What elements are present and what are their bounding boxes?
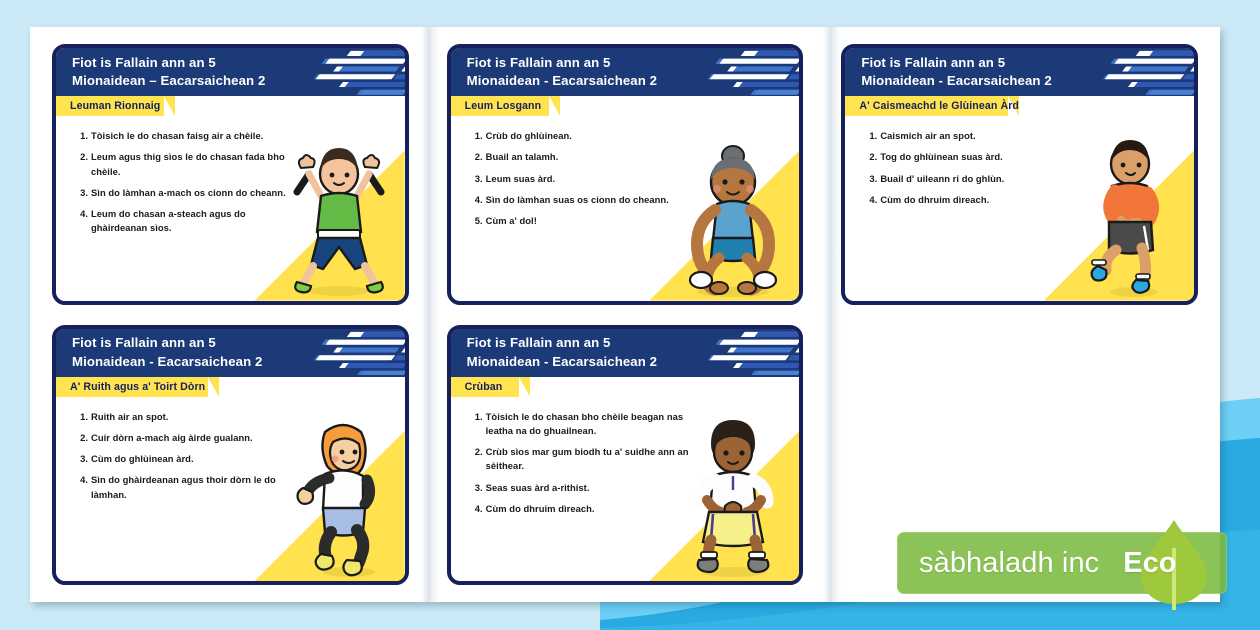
printable-sheet: Fiot is Fallain ann an 5 Mionaidean – Ea… (30, 27, 1220, 602)
card-body: 1.Crùb do ghlùinean.2.Buail an talamh.3.… (451, 116, 800, 301)
exercise-card[interactable]: Fiot is Fallain ann an 5 Mionaidean - Ea… (447, 325, 804, 586)
exercise-name-band: A' Caismeachd le Glùinean Àrd (845, 96, 1194, 116)
instruction-text: Tòisich le do chasan bho chèile beagan n… (486, 411, 683, 436)
card-grid: Fiot is Fallain ann an 5 Mionaidean – Ea… (30, 27, 1220, 602)
instruction-text: Leum agus thig sìos le do chasan fada bh… (91, 151, 285, 176)
instruction-item: 2.Crùb sìos mar gum biodh tu a' suidhe a… (469, 445, 692, 474)
card-title: Fiot is Fallain ann an 5 Mionaidean – Ea… (72, 54, 265, 90)
eco-badge-label: Eco (1123, 547, 1176, 580)
instruction-item: 4.Sìn do ghàirdeanan agus thoir dòrn le … (74, 473, 297, 502)
card-header: Fiot is Fallain ann an 5 Mionaidean – Ea… (56, 48, 405, 96)
exercise-card[interactable]: Fiot is Fallain ann an 5 Mionaidean - Ea… (52, 325, 409, 586)
exercise-name-band: Crùban (451, 377, 800, 397)
instruction-number: 5. (469, 214, 483, 228)
card-body: 1.Tòisich le do chasan faisg air a chèil… (56, 116, 405, 301)
instruction-item: 3.Cùm do ghlùinean àrd. (74, 452, 297, 466)
eco-watermark-label: sàbhaladh inc (919, 547, 1099, 580)
instruction-item: 2.Cuir dòrn a-mach aig àirde gualann. (74, 431, 297, 445)
instruction-item: 3.Sìn do làmhan a-mach os cionn do chean… (74, 186, 297, 200)
card-title: Fiot is Fallain ann an 5 Mionaidean - Ea… (861, 54, 1051, 90)
instruction-number: 4. (863, 193, 877, 207)
instruction-item: 3.Leum suas àrd. (469, 172, 692, 186)
instruction-text: Crùb do ghlùinean. (486, 130, 572, 141)
illustration-high-knees-boy (1068, 134, 1188, 299)
instruction-item: 1.Caismich air an spot. (863, 129, 1086, 143)
instruction-number: 2. (74, 431, 88, 445)
instruction-number: 1. (863, 129, 877, 143)
exercise-name: Leum Losgann (451, 100, 542, 112)
instruction-number: 4. (469, 193, 483, 207)
instruction-number: 1. (74, 410, 88, 424)
instruction-text: Cùm do dhruim dìreach. (486, 503, 595, 514)
exercise-name-band: Leum Losgann (451, 96, 800, 116)
instruction-number: 3. (469, 481, 483, 495)
instruction-number: 4. (469, 502, 483, 516)
illustration-frog-jump-girl (673, 134, 793, 299)
instruction-text: Leum do chasan a-steach agus do ghàirdea… (91, 208, 246, 233)
instruction-number: 4. (74, 473, 88, 487)
card-title: Fiot is Fallain ann an 5 Mionaidean - Ea… (467, 334, 657, 370)
instruction-item: 1.Tòisich le do chasan faisg air a chèil… (74, 129, 297, 143)
instruction-text: Sìn do ghàirdeanan agus thoir dòrn le do… (91, 474, 276, 499)
instruction-list: 1.Tòisich le do chasan faisg air a chèil… (56, 116, 297, 236)
exercise-card[interactable]: Fiot is Fallain ann an 5 Mionaidean - Ea… (447, 44, 804, 305)
instruction-item: 2.Tog do ghlùinean suas àrd. (863, 150, 1086, 164)
instruction-text: Buail an talamh. (486, 151, 559, 162)
instruction-list: 1.Crùb do ghlùinean.2.Buail an talamh.3.… (451, 116, 692, 228)
exercise-name: Crùban (451, 381, 503, 393)
instruction-list: 1.Tòisich le do chasan bho chèile beagan… (451, 397, 692, 517)
speed-stripes-icon (271, 329, 405, 377)
instruction-number: 3. (74, 186, 88, 200)
instruction-text: Crùb sìos mar gum biodh tu a' suidhe ann… (486, 446, 689, 471)
exercise-name: Leuman Rionnaig (56, 100, 160, 112)
instruction-text: Cùm do ghlùinean àrd. (91, 453, 194, 464)
card-body: 1.Tòisich le do chasan bho chèile beagan… (451, 397, 800, 582)
speed-stripes-icon (271, 48, 405, 96)
instruction-item: 3.Buail d' uileann ri do ghlùn. (863, 172, 1086, 186)
instruction-item: 4.Leum do chasan a-steach agus do ghàird… (74, 207, 297, 236)
instruction-text: Caismich air an spot. (880, 130, 975, 141)
instruction-text: Cùm a' dol! (486, 215, 537, 226)
instruction-text: Seas suas àrd a-rithist. (486, 482, 590, 493)
instruction-text: Sìn do làmhan a-mach os cionn do cheann. (91, 187, 286, 198)
instruction-item: 4.Cùm do dhruim dìreach. (469, 502, 692, 516)
instruction-item: 2.Leum agus thig sìos le do chasan fada … (74, 150, 297, 179)
card-header: Fiot is Fallain ann an 5 Mionaidean - Ea… (451, 329, 800, 377)
exercise-card[interactable]: Fiot is Fallain ann an 5 Mionaidean – Ea… (52, 44, 409, 305)
card-body: 1.Ruith air an spot.2.Cuir dòrn a-mach a… (56, 397, 405, 582)
card-header: Fiot is Fallain ann an 5 Mionaidean - Ea… (845, 48, 1194, 96)
instruction-number: 2. (469, 445, 483, 459)
instruction-list: 1.Ruith air an spot.2.Cuir dòrn a-mach a… (56, 397, 297, 502)
card-header: Fiot is Fallain ann an 5 Mionaidean - Ea… (451, 48, 800, 96)
illustration-squat-boy (673, 414, 793, 579)
instruction-item: 1.Tòisich le do chasan bho chèile beagan… (469, 410, 692, 439)
speed-stripes-icon (665, 48, 799, 96)
instruction-text: Cuir dòrn a-mach aig àirde gualann. (91, 432, 253, 443)
instruction-item: 1.Ruith air an spot. (74, 410, 297, 424)
instruction-number: 1. (74, 129, 88, 143)
instruction-item: 1.Crùb do ghlùinean. (469, 129, 692, 143)
instruction-text: Buail d' uileann ri do ghlùn. (880, 173, 1004, 184)
card-title: Fiot is Fallain ann an 5 Mionaidean - Ea… (72, 334, 262, 370)
instruction-item: 3.Seas suas àrd a-rithist. (469, 481, 692, 495)
instruction-text: Ruith air an spot. (91, 411, 168, 422)
instruction-number: 3. (863, 172, 877, 186)
instruction-item: 4.Cùm do dhruim dìreach. (863, 193, 1086, 207)
instruction-text: Leum suas àrd. (486, 173, 555, 184)
card-title: Fiot is Fallain ann an 5 Mionaidean - Ea… (467, 54, 657, 90)
exercise-card[interactable]: Fiot is Fallain ann an 5 Mionaidean - Ea… (841, 44, 1198, 305)
illustration-star-jump-boy (279, 134, 399, 299)
instruction-text: Cùm do dhruim dìreach. (880, 194, 989, 205)
instruction-number: 2. (74, 150, 88, 164)
instruction-number: 3. (74, 452, 88, 466)
eco-watermark: sàbhaladh inc Eco (897, 532, 1227, 594)
instruction-text: Tòisich le do chasan faisg air a chèile. (91, 130, 263, 141)
instruction-item: 5.Cùm a' dol! (469, 214, 692, 228)
instruction-item: 4.Sìn do làmhan suas os cionn do cheann. (469, 193, 692, 207)
instruction-list: 1.Caismich air an spot.2.Tog do ghlùinea… (845, 116, 1086, 207)
card-header: Fiot is Fallain ann an 5 Mionaidean - Ea… (56, 329, 405, 377)
exercise-name: A' Ruith agus a' Toirt Dòrn (56, 381, 205, 393)
speed-stripes-icon (1060, 48, 1194, 96)
instruction-number: 1. (469, 410, 483, 424)
exercise-name-band: A' Ruith agus a' Toirt Dòrn (56, 377, 405, 397)
instruction-item: 2.Buail an talamh. (469, 150, 692, 164)
speed-stripes-icon (665, 329, 799, 377)
instruction-number: 3. (469, 172, 483, 186)
instruction-text: Tog do ghlùinean suas àrd. (880, 151, 1003, 162)
exercise-name: A' Caismeachd le Glùinean Àrd (845, 100, 1019, 112)
exercise-name-band: Leuman Rionnaig (56, 96, 405, 116)
card-body: 1.Caismich air an spot.2.Tog do ghlùinea… (845, 116, 1194, 301)
instruction-number: 4. (74, 207, 88, 221)
instruction-number: 2. (863, 150, 877, 164)
instruction-number: 2. (469, 150, 483, 164)
illustration-running-punch-girl (279, 414, 399, 579)
instruction-text: Sìn do làmhan suas os cionn do cheann. (486, 194, 669, 205)
instruction-number: 1. (469, 129, 483, 143)
